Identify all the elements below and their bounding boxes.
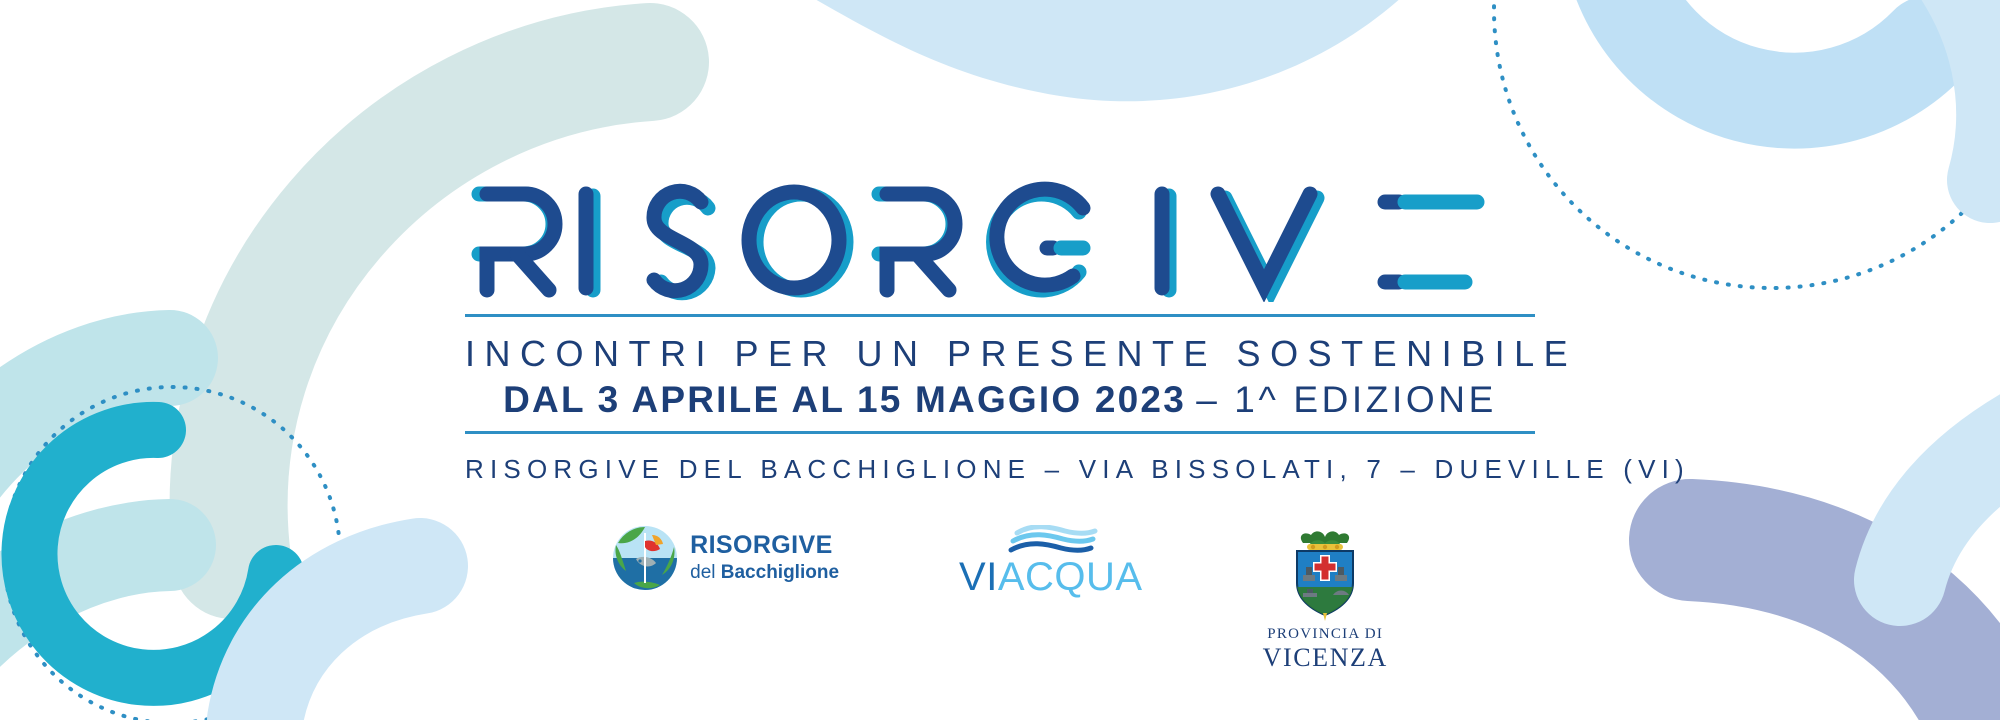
edition-label: – 1^ EDIZIONE [1196, 379, 1497, 420]
partner-logo-strip: RISORGIVE del Bacchiglione VIACQUA [465, 525, 1535, 671]
date-line: DAL 3 APRILE AL 15 MAGGIO 2023 – 1^ EDIZ… [465, 379, 1535, 420]
circular-nature-emblem-icon [612, 525, 678, 591]
partner-viacqua-wordmark: VIACQUA [959, 557, 1143, 597]
partner-provincia-line1: PROVINCIA DI [1263, 627, 1388, 642]
divider-rule-lower [465, 431, 1535, 434]
partner-risorgive-line1: RISORGIVE [690, 533, 839, 558]
wordmark-letter-R1 [479, 194, 555, 290]
poster-canvas: INCONTRI PER UN PRESENTE SOSTENIBILE DAL… [0, 0, 2000, 720]
partner-risorgive-del: del [690, 562, 721, 583]
wordmark-letter-O [749, 192, 846, 290]
partner-provincia-name: PROVINCIA DI VICENZA [1263, 627, 1388, 671]
wordmark-letter-R2 [879, 194, 955, 290]
partner-risorgive-name: RISORGIVE del Bacchiglione [690, 533, 839, 582]
partner-risorgive-line2: del Bacchiglione [690, 563, 839, 582]
partner-viacqua-acqua: ACQUA [998, 555, 1143, 599]
poster-content: INCONTRI PER UN PRESENTE SOSTENIBILE DAL… [0, 0, 2000, 720]
partner-provincia-line2: VICENZA [1263, 645, 1388, 671]
wordmark-letter-G [994, 189, 1083, 290]
partner-logo-viacqua: VIACQUA [959, 525, 1143, 597]
partner-logo-provincia-di-vicenza: PROVINCIA DI VICENZA [1263, 525, 1388, 671]
heraldic-shield-crest-icon [1283, 525, 1367, 621]
partner-risorgive-bacchiglione: Bacchiglione [721, 562, 839, 583]
risorgive-wordmark [465, 172, 1535, 302]
water-waves-icon [1003, 525, 1099, 555]
wordmark-letter-V [1218, 194, 1317, 290]
wordmark-letter-E [1385, 202, 1477, 282]
date-range: DAL 3 APRILE AL 15 MAGGIO 2023 [503, 379, 1186, 420]
partner-viacqua-vi: VI [959, 555, 998, 599]
wordmark-letter-S [654, 191, 708, 292]
partner-logo-risorgive-del-bacchiglione: RISORGIVE del Bacchiglione [612, 525, 839, 591]
wordmark-letter-I1 [586, 194, 593, 290]
divider-rule-upper [465, 314, 1535, 317]
wordmark-letter-I2 [1162, 194, 1169, 290]
venue-line: RISORGIVE DEL BACCHIGLIONE – VIA BISSOLA… [465, 454, 1535, 485]
tagline: INCONTRI PER UN PRESENTE SOSTENIBILE [465, 333, 1535, 375]
